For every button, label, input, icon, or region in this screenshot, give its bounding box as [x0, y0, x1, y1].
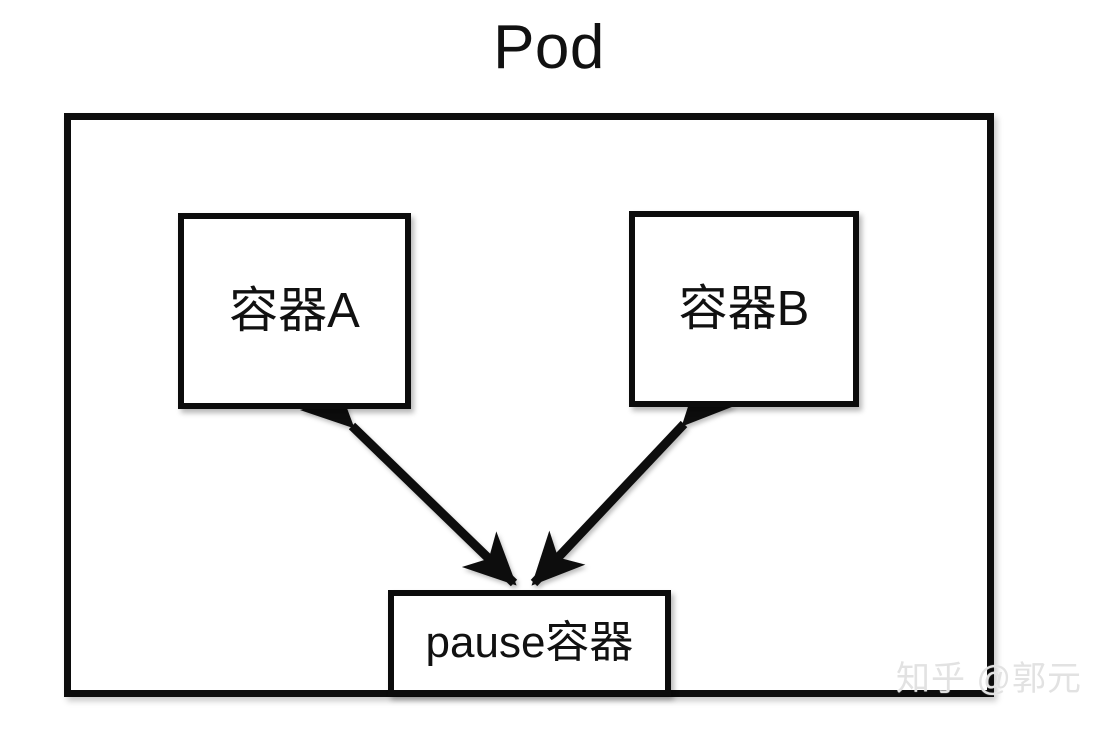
container-b-box: 容器B [629, 211, 859, 407]
pause-container-label: pause容器 [426, 621, 634, 665]
container-a-box: 容器A [178, 213, 411, 409]
watermark: 知乎 @郭元 [896, 657, 1082, 701]
container-a-label: 容器A [229, 287, 360, 336]
page-title: Pod [0, 11, 1098, 85]
container-b-label: 容器B [679, 285, 810, 334]
diagram-canvas: Pod 容器A 容器B pause容器 知乎 @郭元 [0, 0, 1098, 734]
pause-container-box: pause容器 [388, 590, 671, 696]
